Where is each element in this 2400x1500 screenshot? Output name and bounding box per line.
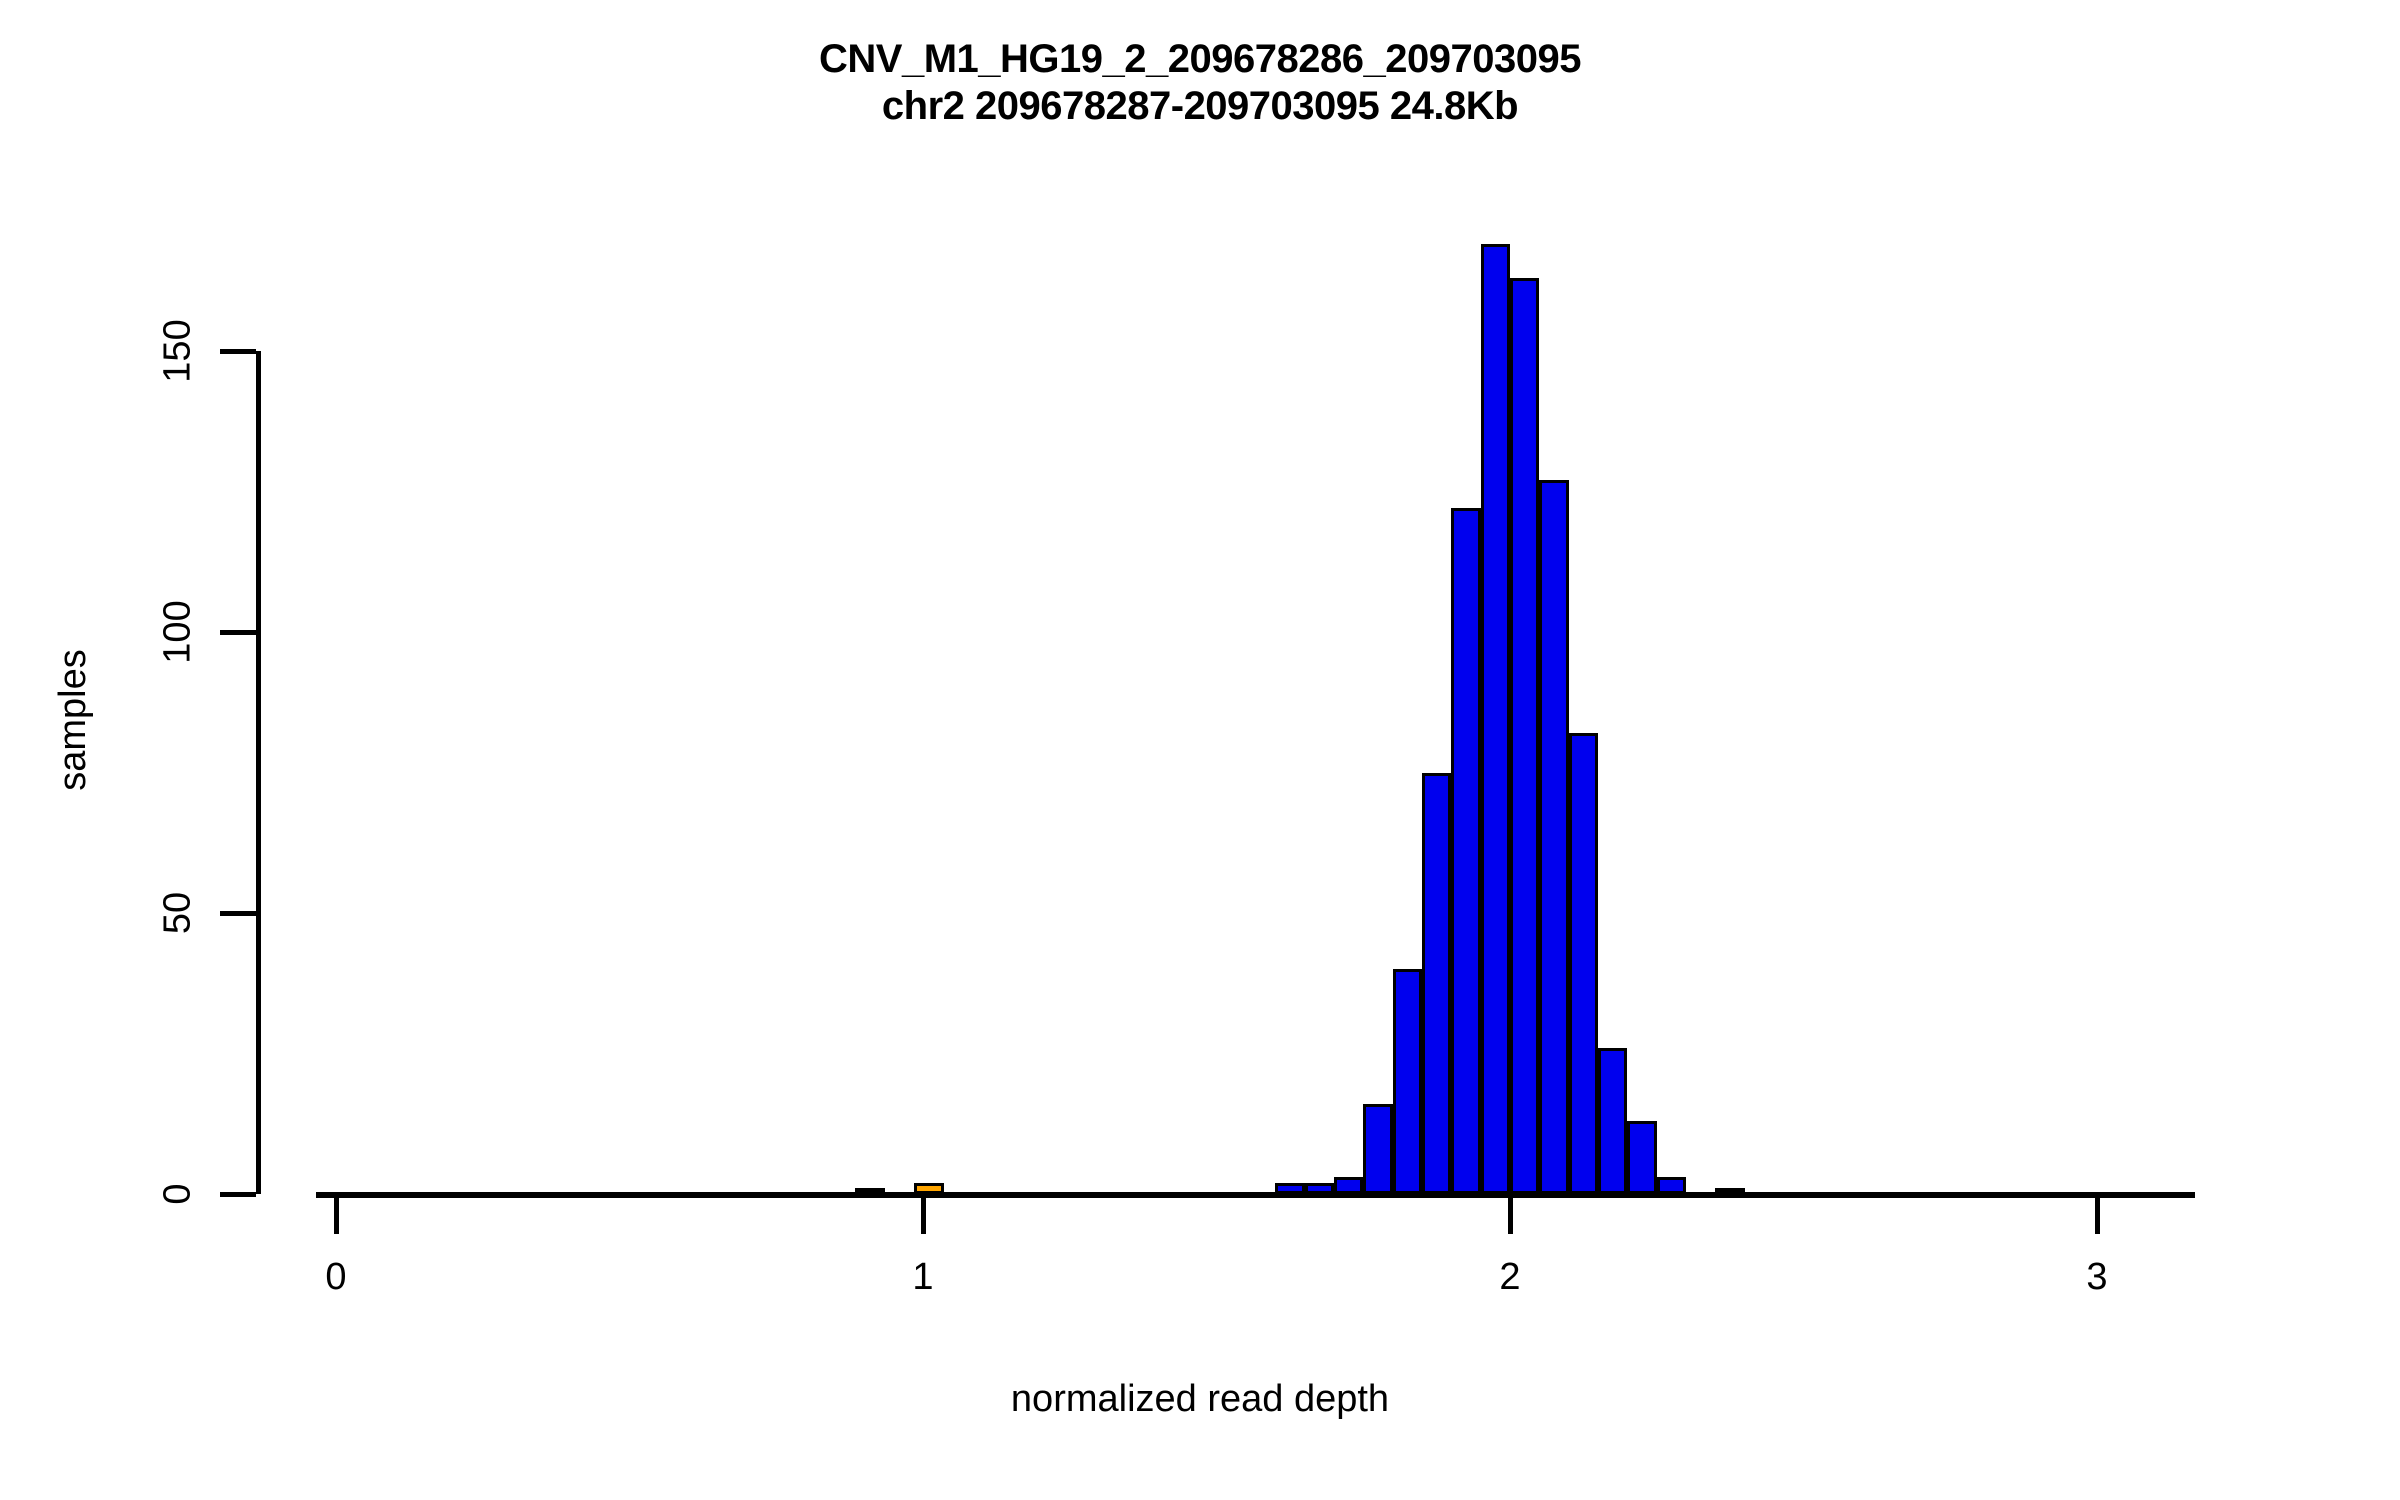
histogram-bar bbox=[1363, 1104, 1392, 1194]
histogram-bar bbox=[1510, 278, 1539, 1194]
y-axis-tick bbox=[220, 1192, 256, 1197]
y-axis-tick-label: 150 bbox=[157, 319, 200, 382]
x-axis-tick-label: 1 bbox=[912, 1256, 933, 1299]
x-axis-tick-label: 3 bbox=[2086, 1256, 2107, 1299]
y-axis-tick bbox=[220, 630, 256, 635]
x-axis-tick bbox=[1508, 1198, 1513, 1234]
plot-area: 0501001500123 bbox=[0, 0, 2400, 1500]
figure-root: CNV_M1_HG19_2_209678286_209703095 chr2 2… bbox=[0, 0, 2400, 1500]
histogram-bar bbox=[1598, 1048, 1627, 1194]
histogram-bar bbox=[1451, 508, 1480, 1194]
x-axis-tick-label: 2 bbox=[1499, 1256, 1520, 1299]
y-axis-tick-label: 50 bbox=[157, 892, 200, 934]
histogram-bar bbox=[1539, 480, 1568, 1194]
x-axis-tick bbox=[334, 1198, 339, 1234]
y-axis-title: samples bbox=[52, 649, 95, 791]
histogram-bar bbox=[1393, 969, 1422, 1194]
histogram-bar bbox=[1569, 733, 1598, 1194]
x-axis-tick bbox=[2095, 1198, 2100, 1234]
histogram-bar bbox=[1627, 1121, 1656, 1194]
x-axis-title: normalized read depth bbox=[0, 1378, 2400, 1421]
y-axis-tick-label: 100 bbox=[157, 600, 200, 663]
y-axis-line bbox=[256, 351, 261, 1194]
x-axis-line bbox=[316, 1192, 2195, 1198]
y-axis-tick-label: 0 bbox=[157, 1183, 200, 1204]
y-axis-tick bbox=[220, 349, 256, 354]
histogram-bar bbox=[1481, 244, 1510, 1194]
x-axis-tick-label: 0 bbox=[325, 1256, 346, 1299]
x-axis-tick bbox=[921, 1198, 926, 1234]
y-axis-tick bbox=[220, 911, 256, 916]
histogram-bar bbox=[1422, 773, 1451, 1195]
